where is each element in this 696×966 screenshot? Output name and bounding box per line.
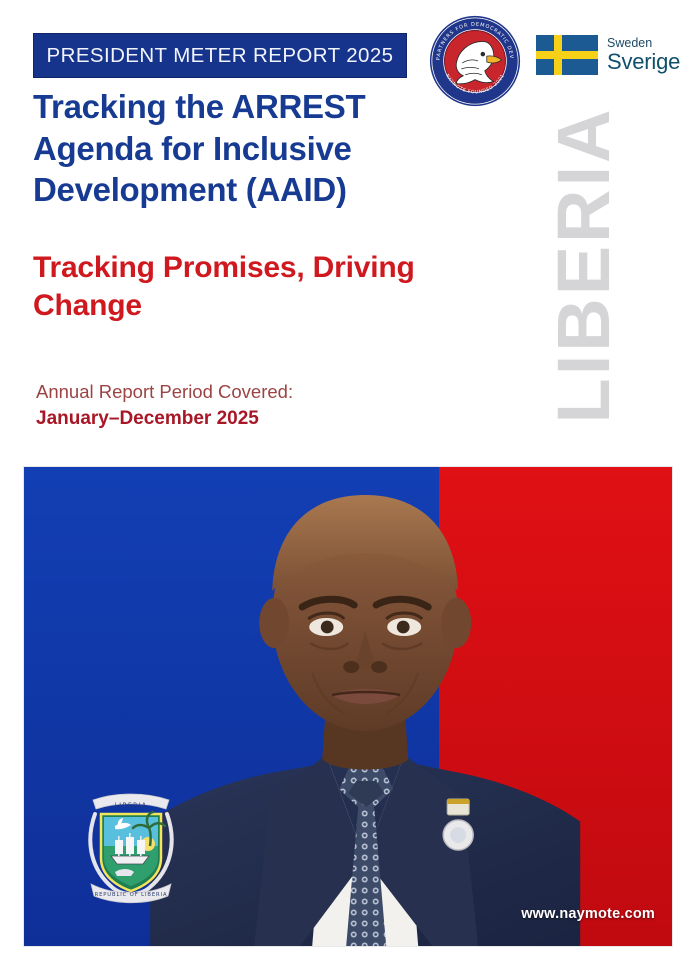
report-period-value: January–December 2025 (36, 406, 466, 431)
page-subtitle: Tracking Promises, Driving Change (33, 249, 463, 325)
svg-text:REPUBLIC OF LIBERIA: REPUBLIC OF LIBERIA (95, 892, 168, 898)
liberia-watermark: LIBERIA (547, 65, 621, 465)
sweden-logo: Sweden Sverige (536, 29, 684, 81)
sweden-label-sv: Sverige (607, 51, 680, 73)
president-portrait: LIBERIA (24, 467, 672, 946)
svg-text:LIBERIA: LIBERIA (115, 802, 148, 809)
report-period-label: Annual Report Period Covered: (36, 380, 466, 405)
report-banner: PRESIDENT METER REPORT 2025 (33, 33, 407, 78)
page-title: Tracking the ARREST Agenda for Inclusive… (33, 86, 463, 211)
president-figure (150, 467, 580, 946)
liberia-coat-of-arms-icon: LIBERIA (71, 784, 191, 904)
report-banner-label: PRESIDENT METER REPORT 2025 (47, 44, 394, 68)
sweden-flag-icon (536, 35, 598, 75)
report-cover-page: LIBERIA PRESIDENT METER REPORT 2025 NAYM… (0, 0, 696, 966)
sweden-label-en: Sweden (607, 37, 680, 50)
website-url[interactable]: www.naymote.com (521, 906, 655, 922)
report-period: Annual Report Period Covered: January–De… (36, 380, 466, 431)
